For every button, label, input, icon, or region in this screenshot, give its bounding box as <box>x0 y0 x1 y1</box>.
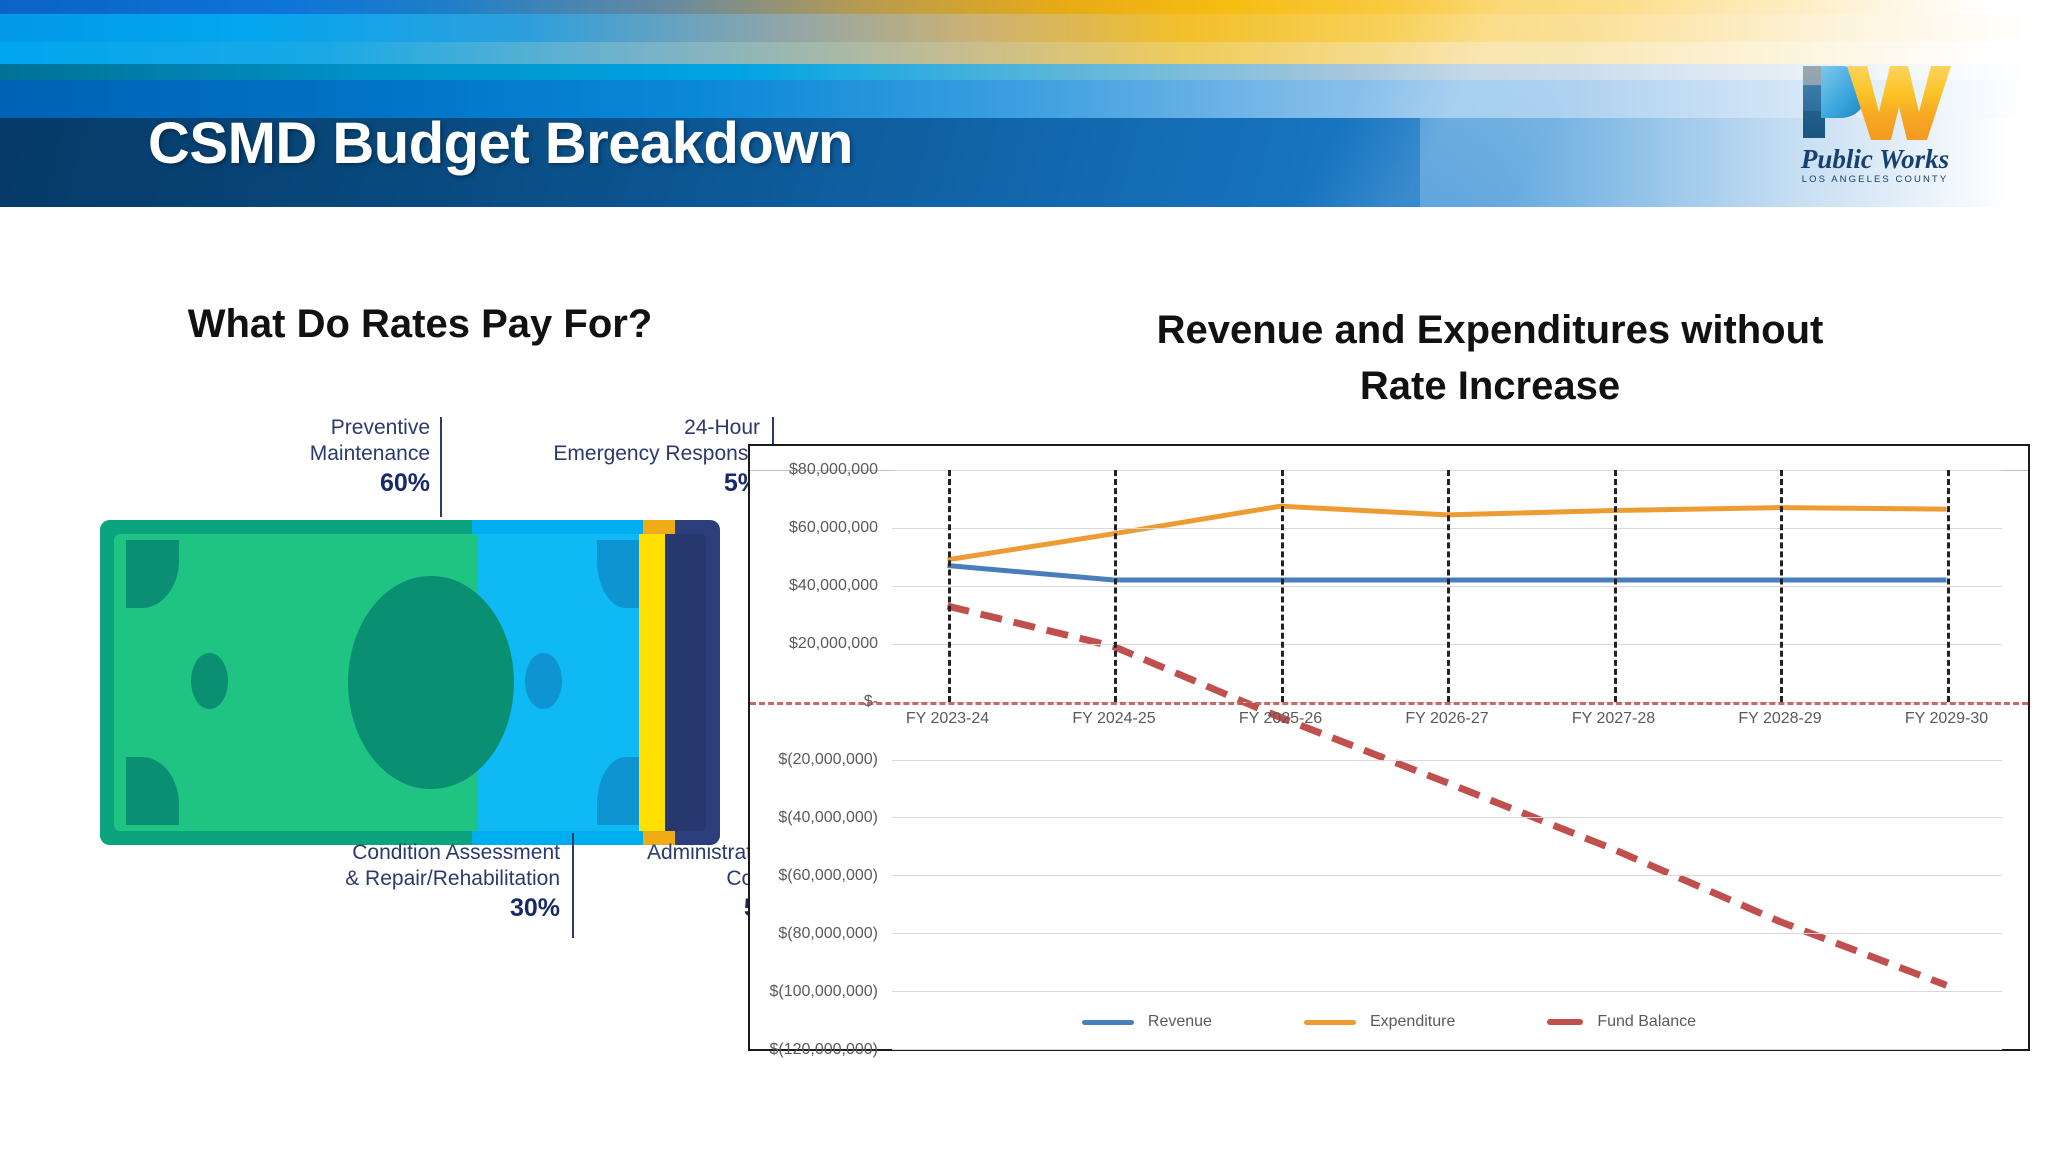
bill-inner <box>114 534 706 831</box>
chart-y-axis-label: $(80,000,000) <box>778 925 878 943</box>
legend-swatch <box>1304 1020 1356 1025</box>
chart-y-axis-label: $80,000,000 <box>789 461 878 479</box>
chart-gridline: $(20,000,000) <box>892 760 2002 761</box>
chart-x-axis-label: FY 2024-25 <box>1072 710 1155 728</box>
chart-category-marker <box>1114 470 1117 702</box>
bill-seal-left <box>191 653 228 709</box>
chart-category-marker <box>948 470 951 702</box>
banner-band-3 <box>0 42 2048 64</box>
callout-line1: Preventive <box>331 416 430 439</box>
chart-category-marker <box>1947 470 1950 702</box>
legend-item-revenue[interactable]: Revenue <box>1082 1013 1212 1031</box>
chart-x-axis-label: FY 2028-29 <box>1738 710 1821 728</box>
chart-y-axis-label: $(40,000,000) <box>778 809 878 827</box>
chart-title-line2: Rate Increase <box>1360 364 1620 408</box>
left-section-title: What Do Rates Pay For? <box>130 302 710 347</box>
callout-preventive-maintenance: Preventive Maintenance 60% <box>220 415 430 496</box>
callout-emergency-response: 24-Hour Emergency Response 5% <box>500 415 760 496</box>
chart-x-axis-label: FY 2027-28 <box>1572 710 1655 728</box>
chart-x-axis-label: FY 2029-30 <box>1905 710 1988 728</box>
chart-category-marker <box>1281 470 1284 702</box>
legend-label: Revenue <box>1148 1013 1212 1031</box>
callout-line2: Maintenance <box>310 442 430 465</box>
callout-percent: 60% <box>220 470 430 496</box>
chart-gridline: $(40,000,000) <box>892 817 2002 818</box>
legend-label: Fund Balance <box>1597 1013 1696 1031</box>
chart-gridline: $(60,000,000) <box>892 875 2002 876</box>
banner-band-1 <box>0 0 2048 14</box>
chart-plot-area: $80,000,000$60,000,000$40,000,000$20,000… <box>892 470 2002 1049</box>
chart-category-marker <box>1614 470 1617 702</box>
page-title: CSMD Budget Breakdown <box>148 110 853 177</box>
chart-y-axis-label: $(120,000,000) <box>769 1041 878 1059</box>
rates-breakdown-graphic: Preventive Maintenance 60% 24-Hour Emerg… <box>100 415 720 845</box>
logo-wordmark: Public Works <box>1785 144 1965 175</box>
banner-bottom-edge <box>0 207 2048 213</box>
public-works-logo: Public Works LOS ANGELES COUNTY <box>1785 52 1965 172</box>
legend-swatch <box>1547 1019 1583 1025</box>
bill-portrait-oval <box>348 576 514 790</box>
chart-y-axis-label: $(100,000,000) <box>769 983 878 1001</box>
callout-line1: 24-Hour <box>684 416 760 439</box>
callout-percent: 30% <box>300 895 560 921</box>
bill-inner-gold <box>639 534 665 831</box>
header-banner <box>0 0 2048 213</box>
callout-line2: Emergency Response <box>553 442 760 465</box>
chart-gridline: $(80,000,000) <box>892 933 2002 934</box>
chart-y-axis-label: $40,000,000 <box>789 577 878 595</box>
chart-title-line1: Revenue and Expenditures without <box>1157 308 1824 352</box>
chart-title: Revenue and Expenditures without Rate In… <box>1010 302 1970 414</box>
chart-gridline: $(120,000,000) <box>892 1049 2002 1050</box>
callout-line2: & Repair/Rehabilitation <box>345 867 560 890</box>
banner-diagonal-highlight <box>1120 0 1720 213</box>
callout-line1: Condition Assessment <box>352 841 560 864</box>
chart-container: $80,000,000$60,000,000$40,000,000$20,000… <box>748 444 2030 1051</box>
chart-y-axis-label: $20,000,000 <box>789 635 878 653</box>
callout-condition-assessment: Condition Assessment & Repair/Rehabilita… <box>300 840 560 921</box>
chart-x-axis-label: FY 2025-26 <box>1239 710 1322 728</box>
banner-band-2 <box>0 14 2048 42</box>
dollar-bill-illustration <box>100 520 720 845</box>
legend-label: Expenditure <box>1370 1013 1455 1031</box>
banner-band-4 <box>0 64 2048 80</box>
slide: CSMD Budget Breakdown <box>0 0 2048 1161</box>
callout-rule <box>440 417 442 517</box>
chart-y-axis-label: $60,000,000 <box>789 519 878 537</box>
legend-item-fund-balance[interactable]: Fund Balance <box>1547 1013 1696 1031</box>
chart-gridline: $(100,000,000) <box>892 991 2002 992</box>
chart-category-marker <box>1447 470 1450 702</box>
bill-inner-navy <box>665 534 706 831</box>
bill-outer <box>100 520 720 845</box>
chart-legend: RevenueExpenditureFund Balance <box>750 1013 2028 1031</box>
chart-category-marker <box>1780 470 1783 702</box>
chart-x-axis-label: FY 2023-24 <box>906 710 989 728</box>
chart-zero-reference-line <box>750 702 2028 705</box>
chart-y-axis-label: $(60,000,000) <box>778 867 878 885</box>
chart-y-axis-label: $(20,000,000) <box>778 751 878 769</box>
bill-seal-right <box>525 653 562 709</box>
callout-percent: 5% <box>500 470 760 496</box>
legend-swatch <box>1082 1020 1134 1025</box>
pw-monogram-icon <box>1785 52 1965 147</box>
legend-item-expenditure[interactable]: Expenditure <box>1304 1013 1455 1031</box>
logo-subtitle: LOS ANGELES COUNTY <box>1785 174 1965 185</box>
callout-rule <box>572 833 574 938</box>
chart-x-axis-label: FY 2026-27 <box>1405 710 1488 728</box>
